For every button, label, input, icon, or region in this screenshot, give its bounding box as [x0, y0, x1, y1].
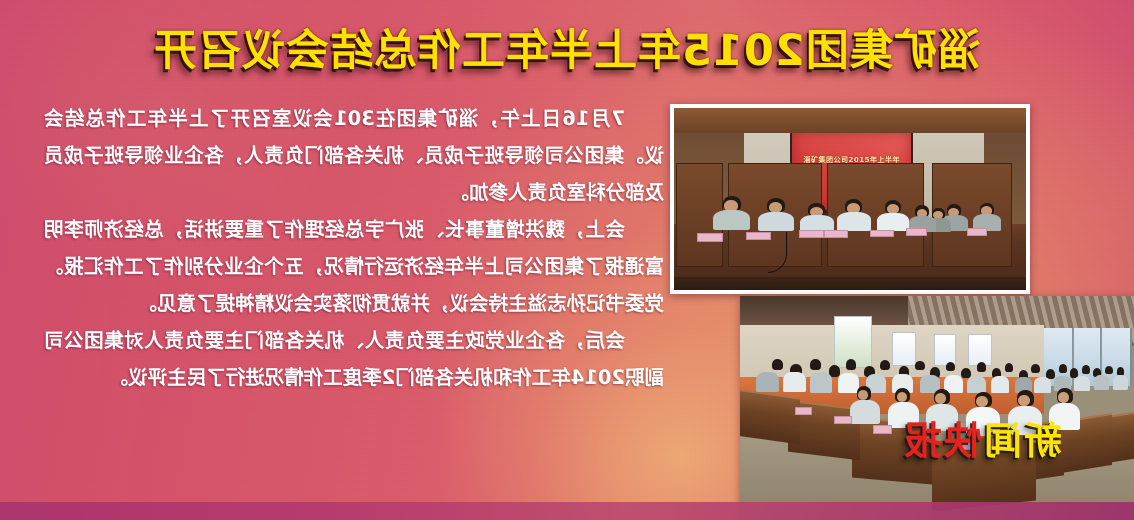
- mirrored-content-layer: 淄矿集团2015年上半年工作总结会议召开 淄矿集团公司2015年上半年 工作总结…: [0, 0, 1134, 520]
- article-paragraph-2: 会上，魏洪增董事长、张广宇总经理作了重要讲话，总经济师李明富通报了集团公司上半年…: [44, 211, 664, 322]
- bottom-accent-bar: [0, 502, 1134, 520]
- photo-conference-panel: 淄矿集团公司2015年上半年 工作总结会议 淄博矿业集团: [670, 104, 1030, 294]
- watermark-part2: 快报: [902, 419, 982, 463]
- photo-audience-image: [740, 296, 1134, 520]
- article-paragraph-1: 7月16日上午，淄矿集团在301会议室召开了上半年工作总结会议。集团公司领导班子…: [44, 100, 664, 211]
- watermark: 新闻快报: [902, 422, 1062, 460]
- photo-conference-panel-image: 淄矿集团公司2015年上半年 工作总结会议 淄博矿业集团: [674, 108, 1026, 290]
- page-title: 淄矿集团2015年上半年工作总结会议召开: [0, 16, 1134, 78]
- photo-audience: [740, 296, 1134, 520]
- article-paragraph-3: 会后，各企业党政主要负责人、机关各部门主要负责人对集团公司副职2014年工作和机…: [44, 322, 664, 396]
- news-poster: 淄矿集团2015年上半年工作总结会议召开 淄矿集团公司2015年上半年 工作总结…: [0, 0, 1134, 520]
- article-body: 7月16日上午，淄矿集团在301会议室召开了上半年工作总结会议。集团公司领导班子…: [44, 100, 664, 396]
- watermark-part1: 新闻: [982, 419, 1062, 463]
